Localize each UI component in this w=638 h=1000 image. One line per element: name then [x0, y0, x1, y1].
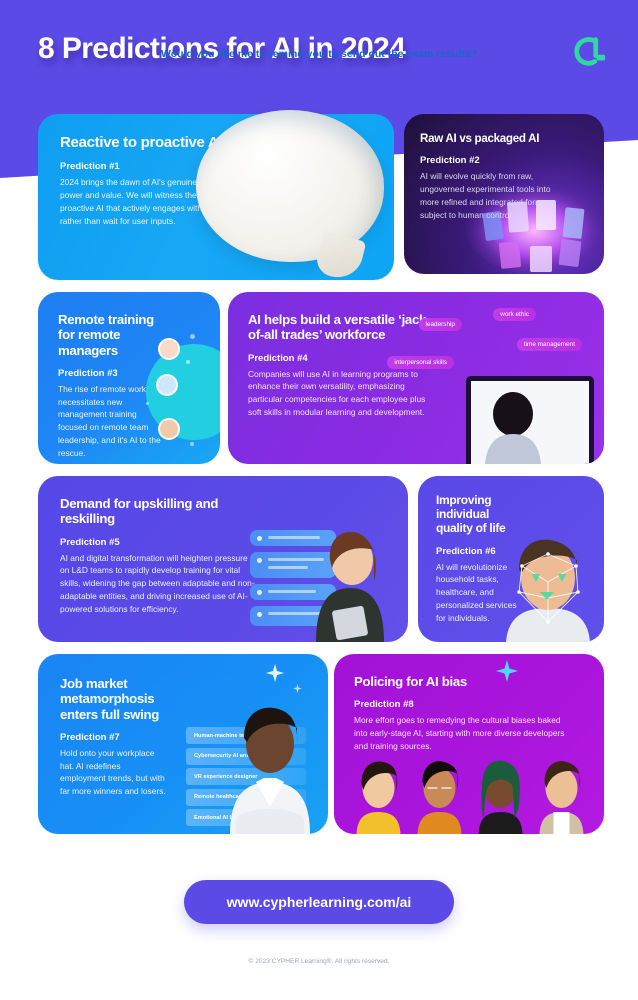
person-portrait: [411, 756, 468, 834]
prediction-card-6[interactable]: Improving individual quality of life Pre…: [418, 476, 604, 642]
skill-tag: interpersonal skills: [387, 356, 454, 369]
card-title: Raw AI vs packaged AI: [420, 132, 554, 145]
prediction-card-2[interactable]: Raw AI vs packaged AI Prediction #2 AI w…: [404, 114, 604, 274]
cta-button[interactable]: www.cypherlearning.com/ai: [184, 880, 454, 924]
prediction-card-5[interactable]: Demand for upskilling and reskilling Pre…: [38, 476, 408, 642]
sparkle-icon: [496, 660, 518, 682]
card-prediction-label: Prediction #7: [60, 732, 168, 743]
skill-tag: leadership: [419, 318, 463, 331]
speech-bubble-text: Would you like me to remind you to send …: [0, 46, 638, 63]
professional-woman-illustration: [214, 694, 326, 834]
person-portrait: [533, 756, 590, 834]
card-prediction-label: Prediction #5: [60, 537, 258, 548]
sparkle-icon: [293, 684, 302, 693]
prediction-card-7[interactable]: Human-machine teaming specialist Cyberse…: [38, 654, 328, 834]
card-title: Remote training for remote managers: [58, 312, 166, 358]
card-title: Reactive to proactive AI: [60, 134, 228, 151]
copyright-text: © 2023 CYPHER Learning®. All rights rese…: [0, 958, 638, 965]
card-title: AI helps build a versatile ‘jack-of-all …: [248, 312, 434, 343]
card-body: Hold onto your workplace hat. AI redefin…: [60, 747, 168, 798]
person-portrait: [350, 756, 407, 834]
card-title: Demand for upskilling and reskilling: [60, 496, 258, 527]
infographic-page: 8 Predictions for AI in 2024 Reactive to…: [0, 0, 638, 1000]
woman-with-tablet-illustration: [298, 522, 402, 642]
person-portrait: [472, 756, 529, 834]
face-recognition-graphic: [492, 530, 604, 642]
sparkle-icon: [266, 664, 284, 682]
card-title: Job market metamorphosis enters full swi…: [60, 676, 168, 722]
card-body: Companies will use AI in learning progra…: [248, 368, 434, 419]
card-body: AI and digital transformation will heigh…: [60, 552, 258, 616]
speech-bubble: [196, 110, 384, 262]
person-illustration: [480, 390, 546, 464]
skill-tag: time management: [517, 338, 582, 351]
prediction-card-3[interactable]: Remote training for remote managers Pred…: [38, 292, 220, 464]
card-prediction-label: Prediction #2: [420, 155, 554, 166]
card-body: AI will evolve quickly from raw, ungover…: [420, 170, 554, 221]
prediction-card-4[interactable]: work ethic leadership time management in…: [228, 292, 604, 464]
card-body: More effort goes to remedying the cultur…: [354, 714, 570, 752]
card-body: The rise of remote work necessitates new…: [58, 383, 166, 460]
prediction-card-8[interactable]: Policing for AI bias Prediction #8 More …: [334, 654, 604, 834]
diverse-people-group: [350, 756, 590, 834]
skill-tag: work ethic: [493, 308, 536, 321]
card-title: Policing for AI bias: [354, 674, 570, 689]
card-prediction-label: Prediction #8: [354, 699, 570, 710]
card-prediction-label: Prediction #3: [58, 368, 166, 379]
